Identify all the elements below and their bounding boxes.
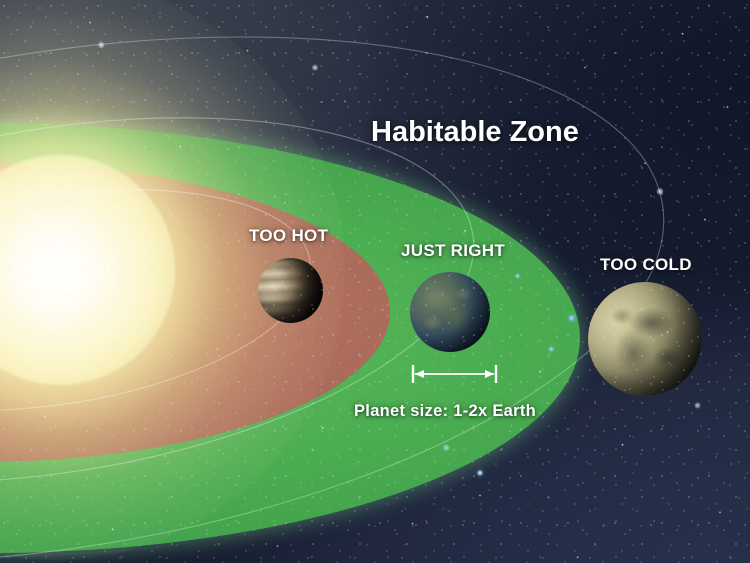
earth-planet-terminator	[410, 272, 490, 352]
habitable-zone-diagram: Habitable Zone TOO HOT JUST RIGHT TOO CO…	[0, 0, 750, 563]
cold-planet-terminator	[588, 282, 702, 396]
hot-planet-terminator	[258, 258, 323, 323]
cold-planet	[588, 282, 702, 396]
zone-label-too-cold: TOO COLD	[600, 255, 692, 275]
page-title: Habitable Zone	[371, 116, 579, 149]
arrow-right-icon	[485, 370, 494, 378]
earth-planet	[410, 272, 490, 352]
arrow-left-icon	[415, 370, 424, 378]
zone-label-just-right: JUST RIGHT	[401, 241, 505, 261]
planet-size-scale-bar	[405, 360, 505, 390]
zone-label-too-hot: TOO HOT	[249, 226, 328, 246]
scale-bar-caption: Planet size: 1-2x Earth	[354, 402, 536, 421]
hot-planet	[258, 258, 323, 323]
